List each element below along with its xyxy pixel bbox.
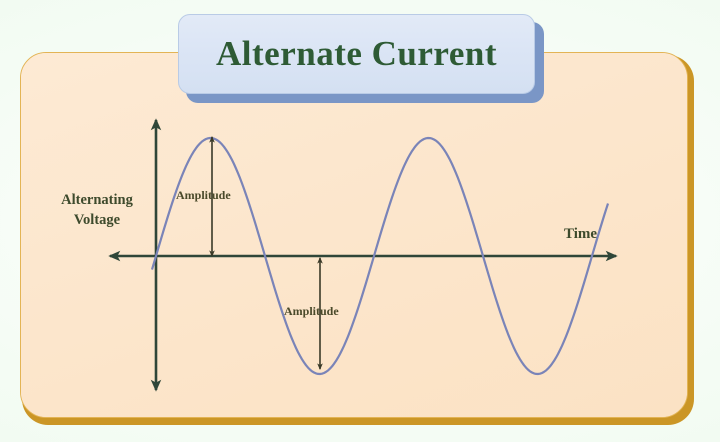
y-axis-label-line2: Voltage (44, 210, 150, 230)
y-axis-label-line1: Alternating (44, 190, 150, 210)
figure-canvas: Alternate Current Alternating Voltage Ti… (0, 0, 720, 442)
amplitude-label-top: Amplitude (176, 188, 231, 203)
x-axis-label: Time (564, 226, 597, 243)
y-axis-label: Alternating Voltage (44, 190, 150, 230)
amplitude-label-bottom: Amplitude (284, 304, 339, 319)
title-plate: Alternate Current (178, 14, 535, 94)
page-title: Alternate Current (216, 34, 497, 74)
